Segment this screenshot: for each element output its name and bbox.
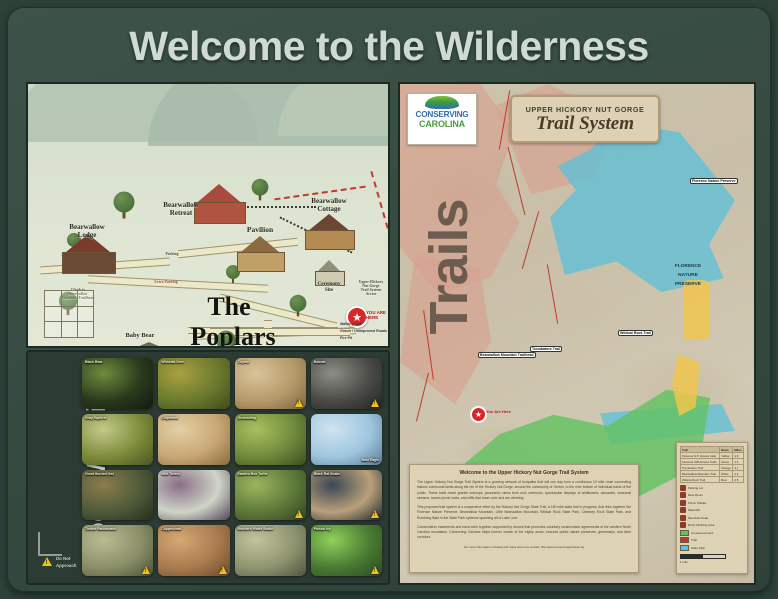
map-legend: TrailBlazeMiles Florence S.P. Access tra… — [676, 442, 748, 574]
label-extra-parking: Extra Parking — [146, 280, 186, 284]
wildlife-card[interactable]: Poison Ivy — [311, 525, 382, 576]
legend-zone-label: Trail — [691, 538, 697, 542]
legend-cell: 2.5 — [733, 477, 744, 483]
wildlife-card[interactable]: Black Rat Snake — [311, 470, 382, 521]
wildlife-card[interactable]: Bobcat — [311, 358, 382, 409]
info-paragraph: Conservation easements and hand work tog… — [417, 525, 631, 541]
trail-system-banner: UPPER HICKORY NUT GORGE Trail System — [510, 95, 660, 143]
map-key: Walking Trail Gravel / Unimproved Roads … — [340, 322, 390, 348]
wildlife-card[interactable]: Great Horned Owl — [82, 470, 153, 521]
facility-icon — [680, 522, 686, 528]
legend-cell: Wildcat Rock Trail — [681, 477, 720, 483]
legend-facility-item: Rest Room — [680, 492, 744, 498]
info-paragraph: The Upper Hickory Nut Gorge Trail System… — [417, 480, 631, 501]
legend-body: Florence S.P. Access trailsYellow1.6Flor… — [681, 453, 744, 483]
legend-zones: Conserved LandTrailState Park — [680, 530, 744, 551]
conserving-carolina-logo: CONSERVING CAROLINA — [407, 93, 477, 145]
wildlife-card[interactable]: Chipmunk — [158, 414, 229, 465]
wildlife-card-label: Great Horned Owl — [85, 472, 114, 476]
wildlife-card-label: Wild Turkey — [161, 472, 180, 476]
scale-bar — [680, 554, 726, 559]
facility-icon — [680, 485, 686, 491]
label-ceremony-site: CeremonySite — [304, 282, 354, 294]
wildlife-warning-note: Do NotApproach — [56, 556, 77, 569]
warning-triangle-icon — [371, 399, 379, 407]
wildlife-card-label: Coyote — [238, 360, 250, 364]
wildlife-card[interactable]: Bald Eagle — [311, 414, 382, 465]
facility-icon — [680, 492, 686, 498]
warning-triangle-icon — [371, 566, 379, 574]
wildlife-card-label: Gray Squirrel — [85, 416, 106, 420]
warning-triangle-icon — [295, 510, 303, 518]
legend-facility-item: Waterfall — [680, 507, 744, 513]
wildlife-card-label: Groundhog — [238, 416, 256, 420]
pavilion-building — [232, 236, 288, 272]
wildlife-card[interactable]: Copperhead — [158, 525, 229, 576]
wildlife-card-label: Poison Ivy — [314, 527, 331, 531]
wildlife-card[interactable]: Timber Rattlesnake — [82, 525, 153, 576]
resort-map-panel[interactable]: BearwallowLodge BearwallowRetreat Bearwa… — [26, 82, 390, 348]
wildlife-photo — [82, 470, 153, 521]
legend-facility-item: Picnic Shelter — [680, 500, 744, 506]
map-inset-grid — [44, 290, 94, 338]
label-parking: Parking — [154, 252, 190, 256]
wildlife-card-label: Black Rat Snake — [314, 472, 340, 476]
legend-row: Wildcat Rock TrailRed2.5 — [681, 477, 744, 483]
info-paragraph: This proposed trail system is a cooperat… — [417, 505, 631, 521]
label-poplars: Poplars — [168, 322, 298, 348]
you-are-here-label: You Are Here — [486, 409, 511, 414]
wildlife-photo — [158, 358, 229, 409]
legend-zone-item: State Park — [680, 545, 744, 551]
legend-facility-item: Parking Lot — [680, 485, 744, 491]
legend-facility-item: Rock Climbing Area — [680, 522, 744, 528]
scale-label: 1 mile — [680, 560, 744, 564]
wildlife-card[interactable]: Northern Water Snake — [235, 525, 306, 576]
label-pavilion: Pavilion — [232, 226, 288, 234]
label-bearwallow-retreat: BearwallowRetreat — [146, 202, 216, 218]
wildlife-panel[interactable]: Local Wildlife Black BearWhitetail DeerC… — [26, 350, 390, 585]
warning-triangle-icon — [42, 557, 52, 566]
lodge-building — [56, 234, 120, 274]
label-baby-bear: Baby Bear — [110, 332, 170, 339]
facility-icon — [680, 507, 686, 513]
label-bearwallow-lodge: BearwallowLodge — [56, 224, 118, 240]
wildlife-card-label: Copperhead — [161, 527, 181, 531]
direction-gorge-access: Upper HickoryNut GorgeTrail SystemAccess — [348, 280, 390, 296]
info-heading: Welcome to the Upper Hickory Nut Gorge T… — [417, 470, 631, 476]
label-the: The — [174, 292, 284, 321]
legend-facility-item: Mountain Peak — [680, 515, 744, 521]
wildlife-card-label: Bobcat — [314, 360, 326, 364]
wildlife-card[interactable]: Gray Squirrel — [82, 414, 153, 465]
wildlife-card[interactable]: Black Bear — [82, 358, 153, 409]
wildlife-card[interactable]: Coyote — [235, 358, 306, 409]
florence-preserve-label: FLORENCENATUREPRESERVE — [658, 262, 718, 289]
legend-zone-item: Conserved Land — [680, 530, 744, 536]
wildlife-corner-bracket — [38, 532, 62, 556]
legend-facility-label: Rest Room — [688, 493, 703, 497]
wildlife-card-label: Whitetail Deer — [161, 360, 184, 364]
legend-facility-label: Rock Climbing Area — [688, 523, 714, 527]
wildlife-photo — [235, 525, 306, 576]
map-marker: Wildcat Rock Trail — [618, 330, 653, 336]
warning-triangle-icon — [219, 566, 227, 574]
legend-zone-label: Conserved Land — [691, 531, 713, 535]
trails-vertical-title: Trails — [418, 152, 480, 382]
wildlife-card-label: Eastern Box Turtle — [238, 472, 268, 476]
mountain-ridge-icon — [278, 82, 390, 136]
kiosk-panel: Welcome to the Wilderness — [8, 8, 770, 591]
wildlife-card-label: Northern Water Snake — [238, 527, 273, 531]
page-title: Welcome to the Wilderness — [129, 23, 649, 70]
key-row: Fire Pit — [340, 336, 390, 340]
zone-swatch — [680, 537, 689, 543]
wildlife-photo — [82, 358, 153, 409]
wildlife-card[interactable]: Groundhog — [235, 414, 306, 465]
wildlife-photo — [158, 414, 229, 465]
wildlife-card[interactable]: Eastern Box Turtle — [235, 470, 306, 521]
key-row: Walking Trail — [340, 322, 390, 326]
legend-zone-item: Trail — [680, 537, 744, 543]
trail-info-textbox: Welcome to the Upper Hickory Nut Gorge T… — [409, 464, 639, 573]
cottage-building — [300, 214, 358, 250]
you-are-here-label: YOU ARE HERE — [366, 310, 388, 320]
legend-facility-label: Waterfall — [688, 508, 700, 512]
banner-title: Trail System — [536, 114, 634, 134]
warning-triangle-icon — [371, 510, 379, 518]
legend-facility-label: Parking Lot — [688, 486, 703, 490]
wildlife-grid[interactable]: Black BearWhitetail DeerCoyoteBobcatGray… — [82, 358, 382, 576]
warning-triangle-icon — [142, 566, 150, 574]
wildlife-card[interactable]: Whitetail Deer — [158, 358, 229, 409]
wildlife-card-label: Black Bear — [85, 360, 103, 364]
key-row: Gravel / Unimproved Roads — [340, 329, 390, 333]
label-bearwallow-cottage: BearwallowCottage — [292, 198, 366, 214]
facility-icon — [680, 500, 686, 506]
mountain-logo-icon — [425, 96, 459, 109]
info-footer: For more information including trail map… — [417, 545, 631, 550]
page-header: Welcome to the Wilderness — [8, 18, 770, 74]
logo-line-2: CAROLINA — [419, 119, 465, 129]
wildlife-card-label: Bald Eagle — [362, 458, 379, 462]
legend-zone-label: State Park — [691, 546, 705, 550]
map-marker: Bearwallow Mountain Trailhead — [478, 352, 536, 358]
zone-swatch — [680, 545, 689, 551]
wildlife-card-label: Chipmunk — [161, 416, 178, 420]
map-marker: Trombatore Trail — [530, 346, 562, 352]
logo-line-1: CONSERVING — [416, 110, 469, 119]
legend-facility-label: Mountain Peak — [688, 516, 708, 520]
map-marker: Florence Nature Preserve — [690, 178, 738, 184]
wildlife-photo — [82, 414, 153, 465]
wildlife-photo — [235, 414, 306, 465]
legend-facilities: Parking LotRest RoomPicnic ShelterWaterf… — [680, 485, 744, 529]
wildlife-card[interactable]: Wild Turkey — [158, 470, 229, 521]
map-trail-red — [370, 171, 390, 239]
trails-map-panel[interactable]: Trails CONSERVING CAROLINA UPPER HICKORY… — [398, 82, 756, 585]
wildlife-card-label: Timber Rattlesnake — [85, 527, 116, 531]
you-are-here-star-icon: ★ — [470, 406, 487, 423]
warning-triangle-icon — [295, 399, 303, 407]
legend-cell: Red — [720, 477, 733, 483]
zone-swatch — [680, 530, 689, 536]
legend-table: TrailBlazeMiles Florence S.P. Access tra… — [680, 446, 744, 483]
facility-icon — [680, 515, 686, 521]
wildlife-photo — [158, 470, 229, 521]
legend-facility-label: Picnic Shelter — [688, 501, 706, 505]
